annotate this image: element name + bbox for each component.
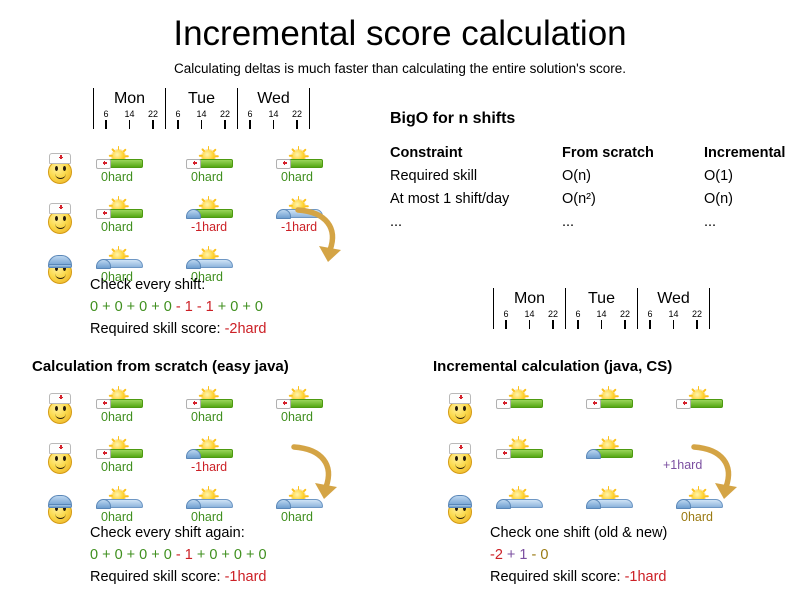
bigo-col-from-scratch: From scratch (562, 145, 704, 165)
timeline-tick (690, 320, 704, 329)
timeline-day-tue: Tue61422 (165, 88, 237, 129)
timeline-tick (546, 320, 560, 329)
guard-badge-icon (96, 497, 111, 510)
avatar-eye-right (463, 456, 466, 461)
guard-avatar-icon (45, 492, 75, 526)
scratch-formula-part-2: - 1 (176, 547, 193, 563)
bigo-r0-incremental: O(1) (704, 165, 785, 188)
nurse-badge-icon (186, 397, 201, 410)
timeline-tick (171, 120, 185, 129)
shift-block[interactable]: 0hard (185, 490, 241, 524)
scratch-result: Required skill score: -1hard (90, 566, 267, 588)
bigo-section: BigO for n shifts Constraint From scratc… (390, 110, 785, 234)
nurse-badge-icon (96, 207, 111, 220)
timeline-tick (146, 120, 160, 129)
timeline-hour-label: 22 (618, 309, 632, 320)
shift-score: -1hard (191, 220, 251, 234)
timeline-tick (523, 320, 537, 329)
top-formula-part-3: + 0 + 0 (214, 299, 263, 315)
shift-score: 0hard (681, 510, 741, 524)
guard-badge-icon (586, 497, 601, 510)
timeline-hour-label: 14 (667, 309, 681, 320)
nurse-cap-icon (49, 393, 71, 404)
top-formula: 0 + 0 + 0 + 0 - 1 - 1 + 0 + 0 (90, 296, 267, 318)
timeline-tick (267, 120, 281, 129)
timeline-hour-label: 14 (595, 309, 609, 320)
timeline-day-wed: Wed61422 (637, 288, 710, 329)
scratch-formula-part-1: 0 + 0 + 0 + 0 (90, 547, 176, 563)
nurse-cap-icon (449, 443, 471, 454)
timeline-tick (667, 320, 681, 329)
shift-score: 0hard (101, 460, 161, 474)
timeline-day-label: Tue (166, 88, 237, 109)
timeline-ticks (638, 320, 709, 329)
shift-block[interactable]: 0hard (185, 390, 241, 424)
timeline-hour-label: 14 (195, 109, 209, 120)
shift-score: -1hard (191, 460, 251, 474)
avatar-eye-right (463, 406, 466, 411)
incremental-formula-part-1: -2 (490, 547, 503, 563)
shift-block[interactable]: -1hard (185, 200, 241, 234)
shift-block[interactable]: -1hard (185, 440, 241, 474)
move-arrow-top (292, 206, 348, 269)
incremental-formula-part-2: + 1 (503, 547, 528, 563)
nurse-badge-icon (186, 157, 201, 170)
scratch-formula-part-3: + 0 + 0 + 0 (193, 547, 267, 563)
shift-block[interactable] (675, 390, 731, 424)
bigo-title: BigO for n shifts (390, 110, 785, 128)
shift-score: 0hard (281, 510, 341, 524)
scratch-check-heading: Check every shift again: (90, 522, 267, 544)
avatar-eye-left (55, 406, 58, 411)
timeline-hour-label: 6 (571, 309, 585, 320)
shift-block[interactable]: 0hard (275, 150, 331, 184)
avatar-eye-left (455, 406, 458, 411)
nurse-badge-icon (96, 397, 111, 410)
timeline-hour-label: 6 (99, 109, 113, 120)
incremental-formula-part-3: - 0 (528, 547, 549, 563)
shift-block[interactable]: 0hard (185, 150, 241, 184)
timeline-tick (218, 120, 232, 129)
avatar-eye-right (63, 216, 66, 221)
timeline-hour-label: 6 (499, 309, 513, 320)
timeline-ticks (238, 120, 309, 129)
nurse-avatar-icon (445, 392, 475, 426)
guard-badge-icon (186, 447, 201, 460)
timeline-hour-label: 22 (290, 109, 304, 120)
timeline-hour-label: 22 (690, 309, 704, 320)
shift-block[interactable] (585, 390, 641, 424)
timeline-day-mon: Mon61422 (93, 88, 165, 129)
guard-badge-icon (586, 447, 601, 460)
bigo-r2-constraint: ... (390, 211, 562, 234)
nurse-cap-icon (49, 443, 71, 454)
page-subtitle: Calculating deltas is much faster than c… (0, 61, 800, 76)
nurse-badge-icon (586, 397, 601, 410)
bigo-r2-incremental: ... (704, 211, 785, 234)
timeline-ticks (566, 320, 637, 329)
bigo-table: Constraint From scratch Incremental Requ… (390, 145, 785, 234)
move-arrow-incremental (688, 443, 744, 506)
timeline-days: Mon61422Tue61422Wed61422 (93, 88, 310, 129)
shift-score: 0hard (281, 170, 341, 184)
shift-score: 0hard (191, 410, 251, 424)
timeline-hour-labels: 61422 (238, 109, 309, 120)
timeline-tick (595, 320, 609, 329)
timeline-tick (123, 120, 137, 129)
guard-badge-icon (186, 257, 201, 270)
incremental-result-value: -1hard (625, 569, 667, 585)
avatar-eye-right (63, 456, 66, 461)
shift-block[interactable]: 0hard (95, 150, 151, 184)
timeline-day-label: Wed (238, 88, 309, 109)
timeline-day-label: Wed (638, 288, 709, 309)
top-check-heading: Check every shift: (90, 274, 267, 296)
guard-badge-icon (276, 207, 291, 220)
avatar-eye-left (455, 456, 458, 461)
nurse-avatar-icon (445, 442, 475, 476)
incremental-result: Required skill score: -1hard (490, 566, 667, 588)
nurse-badge-icon (496, 397, 511, 410)
text-scratch: Check every shift again: 0 + 0 + 0 + 0 -… (90, 522, 267, 588)
shift-score: 0hard (101, 410, 161, 424)
guard-avatar-icon (45, 252, 75, 286)
scratch-result-label: Required skill score: (90, 569, 225, 585)
shift-block[interactable]: 0hard (95, 440, 151, 474)
nurse-badge-icon (96, 447, 111, 460)
timeline-hour-label: 22 (218, 109, 232, 120)
guard-badge-icon (186, 207, 201, 220)
table-row: At most 1 shift/day O(n²) O(n) (390, 188, 785, 211)
nurse-avatar-icon (45, 392, 75, 426)
slide-root: Incremental score calculation Calculatin… (0, 0, 800, 600)
move-arrow-scratch (288, 443, 344, 506)
incremental-result-label: Required skill score: (490, 569, 625, 585)
timeline-tick (618, 320, 632, 329)
bigo-r2-from-scratch: ... (562, 211, 704, 234)
shift-block[interactable] (585, 490, 641, 524)
top-result-label: Required skill score: (90, 321, 225, 337)
avatar-eye-left (55, 216, 58, 221)
guard-badge-icon (186, 497, 201, 510)
shift-block[interactable] (495, 440, 551, 474)
top-formula-part-1: 0 + 0 + 0 + 0 (90, 299, 176, 315)
text-top: Check every shift: 0 + 0 + 0 + 0 - 1 - 1… (90, 274, 267, 340)
shift-block[interactable]: 0hard (95, 390, 151, 424)
timeline-tick (571, 320, 585, 329)
shift-score: 0hard (281, 410, 341, 424)
timeline-days: Mon61422Tue61422Wed61422 (493, 288, 710, 329)
shift-block[interactable]: 0hard (275, 390, 331, 424)
shift-block[interactable] (495, 390, 551, 424)
avatar-eye-left (55, 456, 58, 461)
guard-badge-icon (96, 257, 111, 270)
timeline-hour-labels: 61422 (166, 109, 237, 120)
bigo-r1-incremental: O(n) (704, 188, 785, 211)
shift-score: 0hard (191, 170, 251, 184)
nurse-cap-icon (449, 393, 471, 404)
timeline-tick (643, 320, 657, 329)
timeline-hour-label: 22 (546, 309, 560, 320)
shift-block[interactable]: 0hard (95, 490, 151, 524)
timeline-hour-label: 14 (267, 109, 281, 120)
bigo-col-constraint: Constraint (390, 145, 562, 165)
timeline-ticks (494, 320, 565, 329)
timeline-hour-labels: 61422 (638, 309, 709, 320)
shift-score: 0hard (101, 170, 161, 184)
timeline-tick (195, 120, 209, 129)
timeline-tick (99, 120, 113, 129)
timeline-tick (290, 120, 304, 129)
timeline-hour-labels: 61422 (566, 309, 637, 320)
avatar-eye-left (55, 166, 58, 171)
bigo-r1-constraint: At most 1 shift/day (390, 188, 562, 211)
bigo-header-row: Constraint From scratch Incremental (390, 145, 785, 165)
incremental-check-heading: Check one shift (old & new) (490, 522, 667, 544)
timeline-incremental: Mon61422Tue61422Wed61422 (493, 288, 710, 329)
timeline-top: Mon61422Tue61422Wed61422 (93, 88, 310, 129)
timeline-hour-label: 6 (171, 109, 185, 120)
nurse-badge-icon (676, 397, 691, 410)
shift-block[interactable] (585, 440, 641, 474)
table-row: ... ... ... (390, 211, 785, 234)
bigo-r0-constraint: Required skill (390, 165, 562, 188)
section-heading-scratch: Calculation from scratch (easy java) (32, 358, 289, 375)
avatar-eye-right (63, 406, 66, 411)
top-result: Required skill score: -2hard (90, 318, 267, 340)
avatar-eye-right (63, 166, 66, 171)
section-heading-incremental: Incremental calculation (java, CS) (433, 358, 672, 375)
timeline-ticks (94, 120, 165, 129)
text-incremental: Check one shift (old & new) -2 + 1 - 0 R… (490, 522, 667, 588)
table-row: Required skill O(n) O(1) (390, 165, 785, 188)
nurse-badge-icon (276, 157, 291, 170)
timeline-day-label: Tue (566, 288, 637, 309)
guard-avatar-icon (445, 492, 475, 526)
bigo-r1-from-scratch: O(n²) (562, 188, 704, 211)
timeline-day-label: Mon (494, 288, 565, 309)
shift-block[interactable] (495, 490, 551, 524)
timeline-hour-labels: 61422 (494, 309, 565, 320)
timeline-tick (243, 120, 257, 129)
timeline-day-tue: Tue61422 (565, 288, 637, 329)
scratch-formula: 0 + 0 + 0 + 0 - 1 + 0 + 0 + 0 (90, 544, 267, 566)
timeline-hour-label: 22 (146, 109, 160, 120)
guard-helmet-icon (48, 255, 72, 267)
bigo-r0-from-scratch: O(n) (562, 165, 704, 188)
scratch-result-value: -1hard (225, 569, 267, 585)
nurse-avatar-icon (45, 442, 75, 476)
nurse-badge-icon (96, 157, 111, 170)
nurse-avatar-icon (45, 202, 75, 236)
top-formula-part-2: - 1 - 1 (176, 299, 214, 315)
timeline-day-label: Mon (94, 88, 165, 109)
timeline-day-wed: Wed61422 (237, 88, 310, 129)
timeline-tick (499, 320, 513, 329)
guard-helmet-icon (48, 495, 72, 507)
timeline-day-mon: Mon61422 (493, 288, 565, 329)
bigo-col-incremental: Incremental (704, 145, 785, 165)
nurse-avatar-icon (45, 152, 75, 186)
guard-badge-icon (496, 497, 511, 510)
incremental-formula: -2 + 1 - 0 (490, 544, 667, 566)
nurse-badge-icon (496, 447, 511, 460)
timeline-hour-label: 14 (523, 309, 537, 320)
shift-score: 0hard (101, 220, 161, 234)
nurse-cap-icon (49, 153, 71, 164)
nurse-badge-icon (276, 397, 291, 410)
timeline-hour-label: 6 (643, 309, 657, 320)
timeline-hour-labels: 61422 (94, 109, 165, 120)
shift-block[interactable]: 0hard (95, 200, 151, 234)
page-title: Incremental score calculation (0, 14, 800, 54)
timeline-hour-label: 14 (123, 109, 137, 120)
guard-helmet-icon (448, 495, 472, 507)
timeline-hour-label: 6 (243, 109, 257, 120)
top-result-value: -2hard (225, 321, 267, 337)
timeline-ticks (166, 120, 237, 129)
nurse-cap-icon (49, 203, 71, 214)
